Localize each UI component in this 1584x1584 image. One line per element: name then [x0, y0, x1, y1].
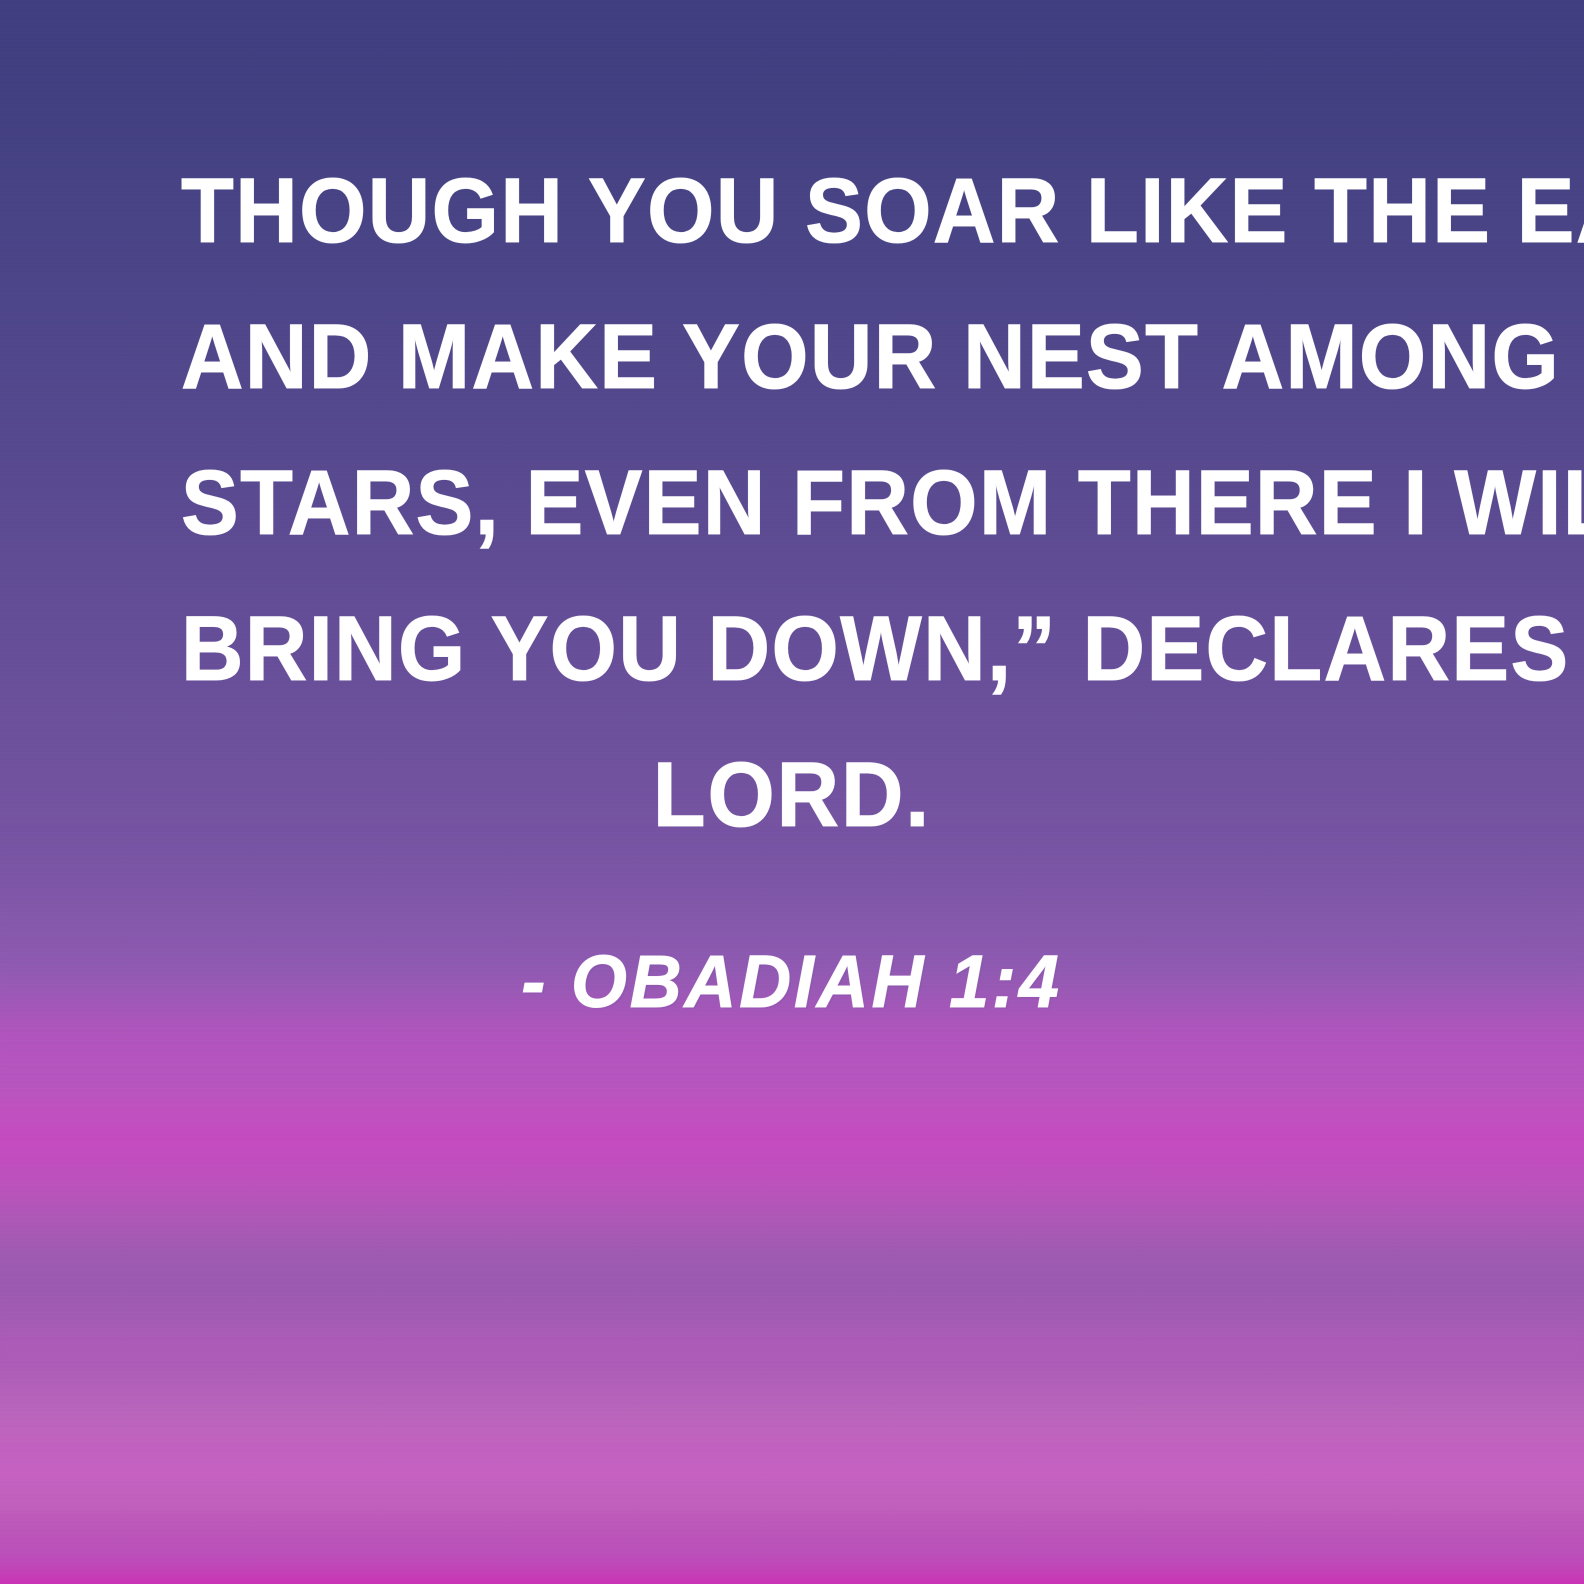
verse-text-block: THOUGH YOU SOAR LIKE THE EAGLE AND MAKE …	[142, 138, 1442, 868]
verse-line-2: AND MAKE YOUR NEST AMONG THE	[181, 284, 1403, 430]
verse-line-3: STARS, EVEN FROM THERE I WILL	[181, 430, 1403, 576]
verse-line-5: LORD.	[181, 722, 1403, 868]
verse-attribution: - OBADIAH 1:4	[522, 940, 1062, 1024]
verse-line-4: BRING YOU DOWN,” DECLARES THE	[181, 576, 1403, 722]
verse-line-1: THOUGH YOU SOAR LIKE THE EAGLE	[181, 138, 1403, 284]
verse-content: THOUGH YOU SOAR LIKE THE EAGLE AND MAKE …	[0, 0, 1584, 1584]
verse-image-canvas: THOUGH YOU SOAR LIKE THE EAGLE AND MAKE …	[0, 0, 1584, 1584]
